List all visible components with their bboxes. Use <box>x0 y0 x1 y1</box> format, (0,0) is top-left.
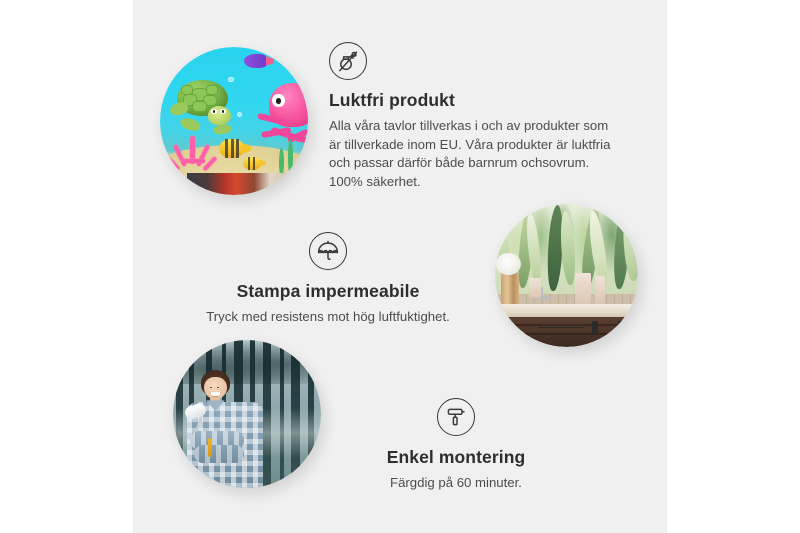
feature-body: Alla våra tavlor tillverkas i och av pro… <box>329 117 619 191</box>
octopus-icon <box>252 83 308 154</box>
feature-block-easy-mounting: Enkel montering Färgdig på 60 minuter. <box>311 398 601 493</box>
feature-body: Tryck med resistens mot hög luftfuktighe… <box>163 308 493 327</box>
woman-figure <box>182 370 268 488</box>
feature-title: Stampa impermeabile <box>163 281 493 302</box>
infographic-canvas: Luktfri produkt Alla våra tavlor tillver… <box>0 0 800 533</box>
door-handle <box>592 321 598 335</box>
striped-fish-icon <box>219 139 244 158</box>
feature-body: Färgdig på 60 minuter. <box>311 474 601 493</box>
striped-fish-icon <box>243 157 261 170</box>
photo-bottom-strip <box>187 173 300 195</box>
paint-roller-icon <box>437 398 475 436</box>
underwater-cartoon-photo <box>160 47 308 195</box>
feature-block-waterproof: Stampa impermeabile Tryck med resistens … <box>163 232 493 327</box>
towel-icon <box>529 278 540 298</box>
drawer-handle <box>538 327 584 328</box>
door-handle <box>618 321 624 335</box>
towel-icon <box>575 273 591 304</box>
no-fragrance-icon <box>329 42 367 80</box>
feature-block-odourless: Luktfri produkt Alla våra tavlor tillver… <box>329 42 629 191</box>
woman-paint-roller-forest-photo <box>173 340 321 488</box>
infographic-panel: Luktfri produkt Alla våra tavlor tillver… <box>133 0 667 533</box>
vanity-cabinet <box>504 317 638 347</box>
umbrella-icon <box>309 232 347 270</box>
flower-icon <box>496 253 520 276</box>
purple-fish-icon <box>244 54 268 67</box>
feature-title: Luktfri produkt <box>329 90 629 111</box>
feature-title: Enkel montering <box>311 447 601 468</box>
towel-icon <box>595 276 605 305</box>
bathroom-tropical-wallpaper-photo <box>495 204 638 347</box>
turtle-icon <box>170 80 238 139</box>
